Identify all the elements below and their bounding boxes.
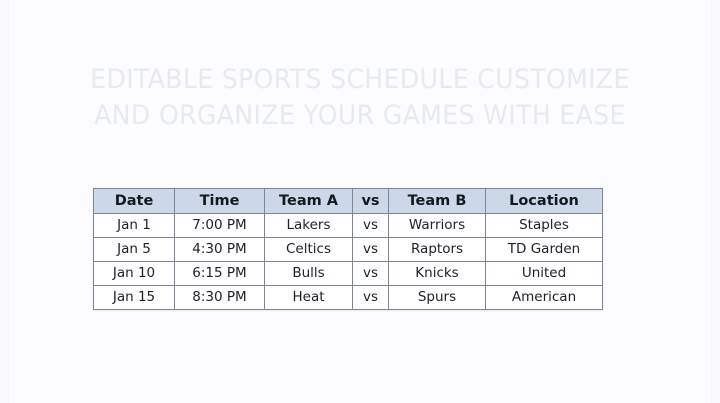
column-header-team-b[interactable]: Team B bbox=[389, 189, 486, 214]
table-row[interactable]: Jan 1 7:00 PM Lakers vs Warriors Staples bbox=[94, 214, 603, 238]
cell-time[interactable]: 6:15 PM bbox=[175, 262, 265, 286]
cell-team-b[interactable]: Knicks bbox=[389, 262, 486, 286]
sports-schedule-table: Date Time Team A vs Team B Location Jan … bbox=[93, 188, 603, 310]
column-header-date[interactable]: Date bbox=[94, 189, 175, 214]
column-header-time[interactable]: Time bbox=[175, 189, 265, 214]
cell-time[interactable]: 7:00 PM bbox=[175, 214, 265, 238]
column-header-team-a[interactable]: Team A bbox=[265, 189, 353, 214]
table-header-row: Date Time Team A vs Team B Location bbox=[94, 189, 603, 214]
cell-team-a[interactable]: Bulls bbox=[265, 262, 353, 286]
cell-vs[interactable]: vs bbox=[353, 214, 389, 238]
slide-canvas: EDITABLE SPORTS SCHEDULE CUSTOMIZE AND O… bbox=[0, 0, 720, 403]
cell-time[interactable]: 8:30 PM bbox=[175, 286, 265, 310]
cell-team-b[interactable]: Spurs bbox=[389, 286, 486, 310]
cell-team-a[interactable]: Heat bbox=[265, 286, 353, 310]
table-row[interactable]: Jan 15 8:30 PM Heat vs Spurs American bbox=[94, 286, 603, 310]
cell-date[interactable]: Jan 5 bbox=[94, 238, 175, 262]
schedule-table-container: Date Time Team A vs Team B Location Jan … bbox=[93, 188, 603, 310]
cell-vs[interactable]: vs bbox=[353, 286, 389, 310]
page-title-line-2: AND ORGANIZE YOUR GAMES WITH EASE bbox=[25, 98, 695, 134]
cell-location[interactable]: Staples bbox=[486, 214, 603, 238]
cell-time[interactable]: 4:30 PM bbox=[175, 238, 265, 262]
page-title: EDITABLE SPORTS SCHEDULE CUSTOMIZE AND O… bbox=[0, 62, 720, 134]
cell-team-a[interactable]: Lakers bbox=[265, 214, 353, 238]
cell-location[interactable]: American bbox=[486, 286, 603, 310]
cell-date[interactable]: Jan 10 bbox=[94, 262, 175, 286]
cell-location[interactable]: United bbox=[486, 262, 603, 286]
cell-vs[interactable]: vs bbox=[353, 262, 389, 286]
cell-vs[interactable]: vs bbox=[353, 238, 389, 262]
column-header-vs[interactable]: vs bbox=[353, 189, 389, 214]
cell-location[interactable]: TD Garden bbox=[486, 238, 603, 262]
page-title-line-1: EDITABLE SPORTS SCHEDULE CUSTOMIZE bbox=[25, 62, 695, 98]
table-row[interactable]: Jan 5 4:30 PM Celtics vs Raptors TD Gard… bbox=[94, 238, 603, 262]
cell-date[interactable]: Jan 15 bbox=[94, 286, 175, 310]
cell-team-b[interactable]: Raptors bbox=[389, 238, 486, 262]
table-row[interactable]: Jan 10 6:15 PM Bulls vs Knicks United bbox=[94, 262, 603, 286]
cell-date[interactable]: Jan 1 bbox=[94, 214, 175, 238]
cell-team-b[interactable]: Warriors bbox=[389, 214, 486, 238]
column-header-location[interactable]: Location bbox=[486, 189, 603, 214]
cell-team-a[interactable]: Celtics bbox=[265, 238, 353, 262]
